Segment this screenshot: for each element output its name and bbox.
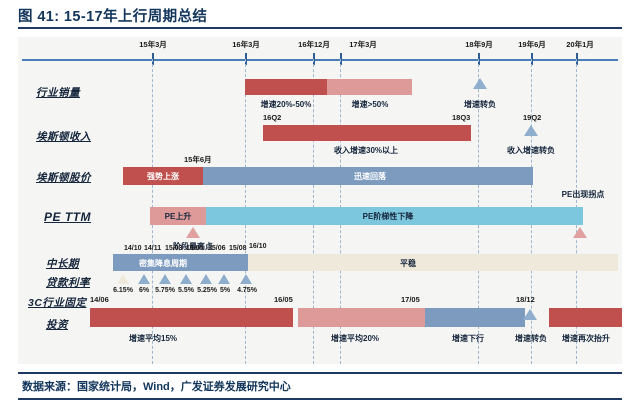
bar-segment-label: 强势上涨 (147, 171, 179, 182)
segment-start-date: 16Q2 (263, 113, 281, 122)
stage-peak-marker-icon (186, 227, 200, 238)
bar-segment (245, 79, 327, 95)
row-label-3c-line1: 3C行业固定 (28, 295, 86, 310)
marker-date: 18/12 (516, 295, 535, 304)
axis-tick-label: 15年3月 (139, 39, 167, 50)
timeline-chart-panel: 15年3月 16年3月 16年12月 17年3月 18年9月 19年6月 20年… (18, 37, 622, 364)
rate-value: 5% (220, 287, 230, 294)
axis-tick-label: 16年3月 (232, 39, 260, 50)
rate-value: 5.75% (155, 287, 175, 294)
segment-start-date: 16/05 (274, 295, 293, 304)
row-label-estun-revenue: 埃斯顿收入 (36, 129, 91, 144)
bar-segment-label: 迅速回落 (354, 171, 386, 182)
page-title: 图 41: 15-17年上行周期总结 (18, 5, 207, 26)
rate-cut-date: 14/11 (144, 245, 161, 252)
growth-turns-negative-marker-icon (523, 309, 537, 320)
bar-segment-label: 增速平均15% (129, 333, 177, 344)
rate-cut-date: 15/05 (186, 245, 204, 252)
bar-segment-label: 增速20%-50% (261, 99, 312, 110)
bar-segment (298, 308, 425, 327)
bar-segment-label: 收入增速30%以上 (334, 145, 398, 156)
pe-inflection-marker-icon (573, 227, 587, 238)
segment-start-date: 17/05 (401, 295, 420, 304)
row-label-loan-rate-line1: 中长期 (46, 256, 79, 271)
rate-cut-date: 14/10 (124, 245, 142, 252)
bar-segment (327, 79, 412, 95)
rate-cut-marker-icon (117, 274, 129, 284)
row-label-pe-ttm: PE TTM (44, 210, 91, 224)
marker-date: 19Q2 (523, 113, 541, 122)
segment-start-date: 14/06 (90, 295, 109, 304)
bar-segment-label: 增速>50% (352, 99, 389, 110)
bar-segment-label: 增速平均20% (331, 333, 379, 344)
timeline-axis (22, 59, 618, 61)
axis-tick-label: 16年12月 (298, 39, 330, 50)
bar-segment-label: 增速下行 (452, 333, 484, 344)
axis-tick-label: 17年3月 (349, 39, 377, 50)
axis-tick-label: 18年9月 (465, 39, 493, 50)
marker-label: 收入增速转负 (507, 145, 555, 156)
segment-start-date: 15年6月 (184, 154, 212, 165)
segment-end-date: 18Q3 (452, 113, 470, 122)
revenue-turns-negative-marker-icon (524, 125, 538, 136)
title-divider (18, 27, 622, 29)
bar-segment (90, 308, 293, 327)
footer-divider-top (18, 372, 622, 374)
rate-cut-marker-icon (240, 274, 252, 284)
growth-turns-negative-marker-icon (473, 78, 487, 89)
bar-segment (549, 308, 622, 327)
marker-label: PE出现拐点 (562, 189, 605, 200)
rate-value: 5.5% (178, 287, 194, 294)
marker-label: 增速转负 (515, 333, 547, 344)
rate-cut-date: 15/03 (165, 245, 183, 252)
data-source-note: 数据来源：国家统计局，Wind，广发证券发展研究中心 (22, 378, 291, 394)
row-label-3c-line2: 投资 (46, 317, 68, 332)
rate-cut-marker-icon (159, 274, 171, 284)
axis-tick-label: 20年1月 (566, 39, 594, 50)
rate-cut-marker-icon (200, 274, 212, 284)
row-label-estun-share-price: 埃斯顿股价 (36, 170, 91, 185)
bar-segment-label: 平稳 (400, 258, 416, 269)
bar-segment-label: 密集降息周期 (139, 258, 187, 269)
rate-cut-date: 15/08 (229, 245, 247, 252)
bar-segment (263, 125, 471, 141)
rate-cut-marker-icon (218, 274, 230, 284)
axis-tick-label: 19年6月 (518, 39, 546, 50)
row-label-loan-rate-line2: 贷款利率 (46, 275, 90, 290)
rate-value: 6% (139, 287, 149, 294)
rate-cut-marker-icon (180, 274, 192, 284)
chart-title-bar: 图 41: 15-17年上行周期总结 (0, 0, 640, 30)
rate-cut-date: 15/06 (208, 245, 226, 252)
rate-cut-marker-icon (138, 274, 150, 284)
footer-divider-bottom (18, 398, 622, 400)
rate-cut-date: 16/10 (249, 243, 267, 250)
rate-value: 5.25% (197, 287, 217, 294)
bar-segment (425, 308, 525, 327)
marker-label: 增速转负 (464, 99, 496, 110)
bar-segment-label: PE阶梯性下降 (363, 211, 414, 222)
row-label-industry-sales: 行业销量 (36, 85, 80, 100)
rate-value: 6.15% (113, 287, 133, 294)
bar-segment (248, 254, 618, 271)
bar-segment-label: PE上升 (165, 211, 192, 222)
rate-value: 4.75% (237, 287, 257, 294)
bar-segment-label: 增速再次抬升 (562, 333, 610, 344)
